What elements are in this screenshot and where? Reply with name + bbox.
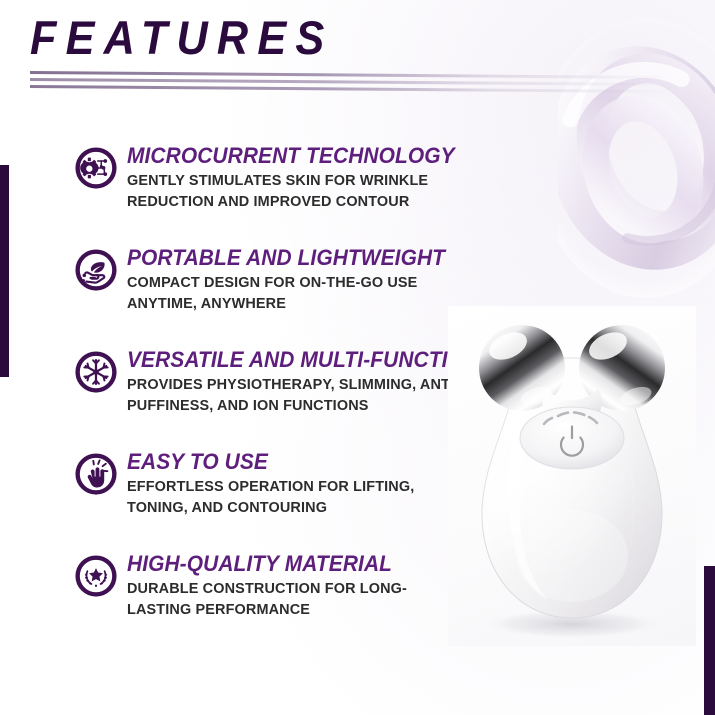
feature-description: DURABLE CONSTRUCTION FOR LONG-LASTING PE… — [127, 579, 458, 619]
feature-description: PROVIDES PHYSIOTHERAPY, SLIMMING, ANTI-P… — [127, 375, 488, 415]
title-rule-3 — [30, 85, 670, 93]
feature-list: MICROCURRENT TECHNOLOGY GENTLY STIMULATE… — [75, 143, 475, 635]
feature-text: PORTABLE AND LIGHTWEIGHT COMPACT DESIGN … — [127, 245, 475, 314]
microcurrent-facial-toning-device — [448, 306, 698, 666]
feature-title: HIGH-QUALITY MATERIAL — [127, 552, 451, 575]
left-accent-bar — [0, 165, 9, 377]
list-item: MICROCURRENT TECHNOLOGY GENTLY STIMULATE… — [75, 143, 475, 227]
laurel-star-badge-icon — [75, 555, 117, 597]
feature-text: HIGH-QUALITY MATERIAL DURABLE CONSTRUCTI… — [127, 551, 475, 620]
feature-title: PORTABLE AND LIGHTWEIGHT — [127, 246, 451, 269]
feature-description: EFFORTLESS OPERATION FOR LIFTING, TONING… — [127, 477, 458, 517]
title-underline-rules — [30, 71, 670, 93]
hand-holding-leaf-icon — [75, 249, 117, 291]
list-item: PORTABLE AND LIGHTWEIGHT COMPACT DESIGN … — [75, 245, 475, 329]
features-infographic: FEATURES — [0, 0, 715, 715]
feature-text: EASY TO USE EFFORTLESS OPERATION FOR LIF… — [127, 449, 475, 518]
feature-title: MICROCURRENT TECHNOLOGY — [127, 144, 455, 167]
list-item: VERSATILE AND MULTI-FUNCTIONAL PROVIDES … — [75, 347, 475, 431]
list-item: HIGH-QUALITY MATERIAL DURABLE CONSTRUCTI… — [75, 551, 475, 635]
feature-title: EASY TO USE — [127, 450, 451, 473]
title-block: FEATURES — [30, 14, 690, 93]
list-item: EASY TO USE EFFORTLESS OPERATION FOR LIF… — [75, 449, 475, 533]
feature-description: GENTLY STIMULATES SKIN FOR WRINKLE REDUC… — [127, 171, 462, 211]
page-title: FEATURES — [30, 14, 637, 61]
gear-circuit-icon — [75, 147, 117, 189]
feature-description: COMPACT DESIGN FOR ON-THE-GO USE ANYTIME… — [127, 273, 458, 313]
feature-text: MICROCURRENT TECHNOLOGY GENTLY STIMULATE… — [127, 143, 479, 212]
right-accent-bar — [704, 566, 715, 715]
snowflake-icon — [75, 351, 117, 393]
product-image — [448, 306, 698, 666]
tapping-hand-icon — [75, 453, 117, 495]
